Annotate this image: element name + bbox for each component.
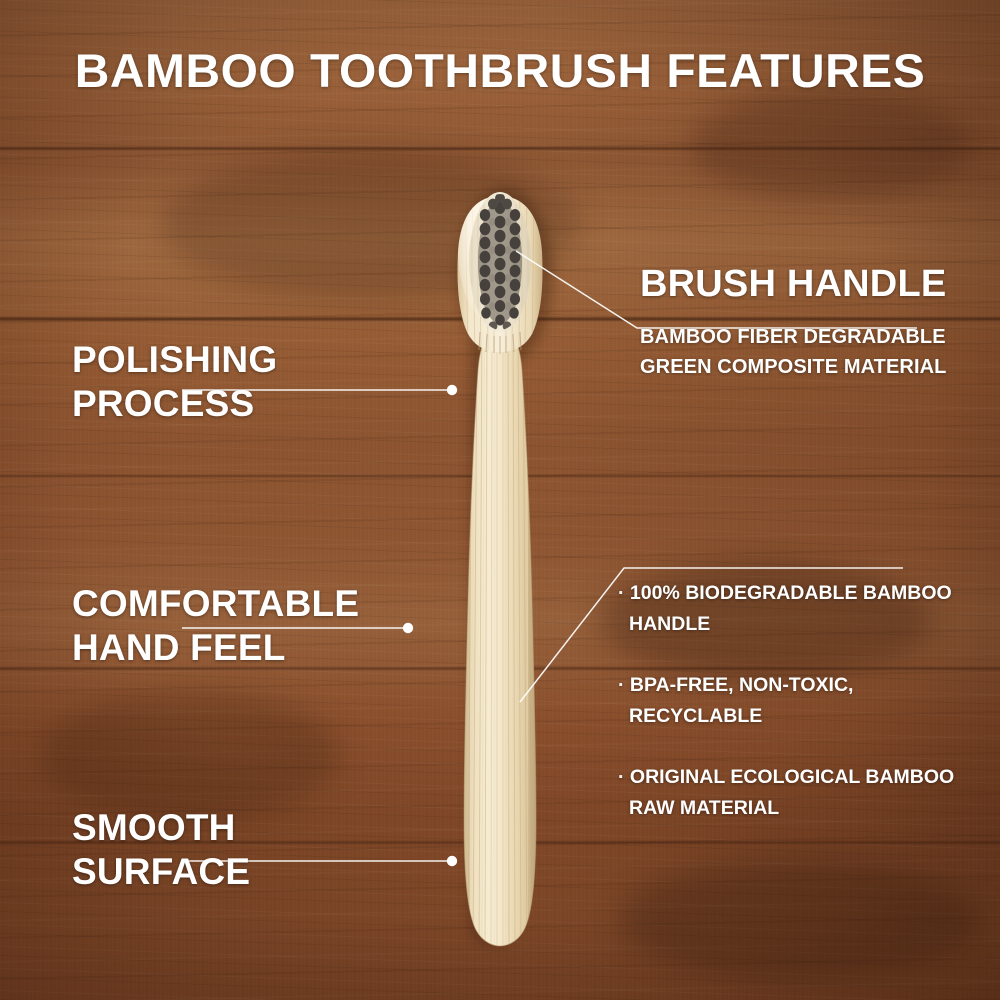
- callout-line-2: SURFACE: [72, 850, 250, 894]
- brush-handle-heading: BRUSH HANDLE: [640, 262, 946, 306]
- callout-line-2: PROCESS: [72, 382, 277, 426]
- callout-comfortable-hand-feel: COMFORTABLE HAND FEEL: [72, 582, 359, 670]
- bullet-line-2: HANDLE: [629, 613, 710, 635]
- callout-polishing-process: POLISHING PROCESS: [72, 338, 277, 426]
- feature-bullet-list: · 100% BIODEGRADABLE BAMBOO HANDLE · BPA…: [618, 578, 990, 824]
- leader-dot-smooth: [447, 856, 457, 866]
- bullet-marker-icon: ·: [618, 582, 625, 604]
- leader-dot-comfort: [403, 623, 413, 633]
- bullet-marker-icon: ·: [618, 674, 625, 696]
- bullet-line-1: BPA-FREE, NON-TOXIC,: [630, 674, 854, 696]
- callout-line-1: COMFORTABLE: [72, 582, 359, 626]
- bullet-line-2: RAW MATERIAL: [629, 797, 779, 819]
- brush-handle-sub-line-1: BAMBOO FIBER DEGRADABLE: [640, 323, 946, 351]
- infographic-canvas: BAMBOO TOOTHBRUSH FEATURES POLISHING PRO…: [0, 0, 1000, 1000]
- leader-dot-polishing: [447, 385, 457, 395]
- bullet-item: · ORIGINAL ECOLOGICAL BAMBOO RAW MATERIA…: [618, 762, 990, 824]
- callout-line-1: SMOOTH: [72, 806, 250, 850]
- callout-line-1: POLISHING: [72, 338, 277, 382]
- bullet-line-1: ORIGINAL ECOLOGICAL BAMBOO: [630, 766, 954, 788]
- bullet-line-1: 100% BIODEGRADABLE BAMBOO: [630, 582, 952, 604]
- bullet-line-2: RECYCLABLE: [629, 705, 762, 727]
- brush-handle-sub-line-2: GREEN COMPOSITE MATERIAL: [640, 353, 946, 381]
- callout-smooth-surface: SMOOTH SURFACE: [72, 806, 250, 894]
- bullet-item: · BPA-FREE, NON-TOXIC, RECYCLABLE: [618, 670, 990, 732]
- bullet-marker-icon: ·: [618, 766, 625, 788]
- bullet-item: · 100% BIODEGRADABLE BAMBOO HANDLE: [618, 578, 990, 640]
- page-title: BAMBOO TOOTHBRUSH FEATURES: [0, 44, 1000, 98]
- callout-line-2: HAND FEEL: [72, 626, 359, 670]
- callout-brush-handle: BRUSH HANDLE BAMBOO FIBER DEGRADABLE GRE…: [640, 262, 946, 381]
